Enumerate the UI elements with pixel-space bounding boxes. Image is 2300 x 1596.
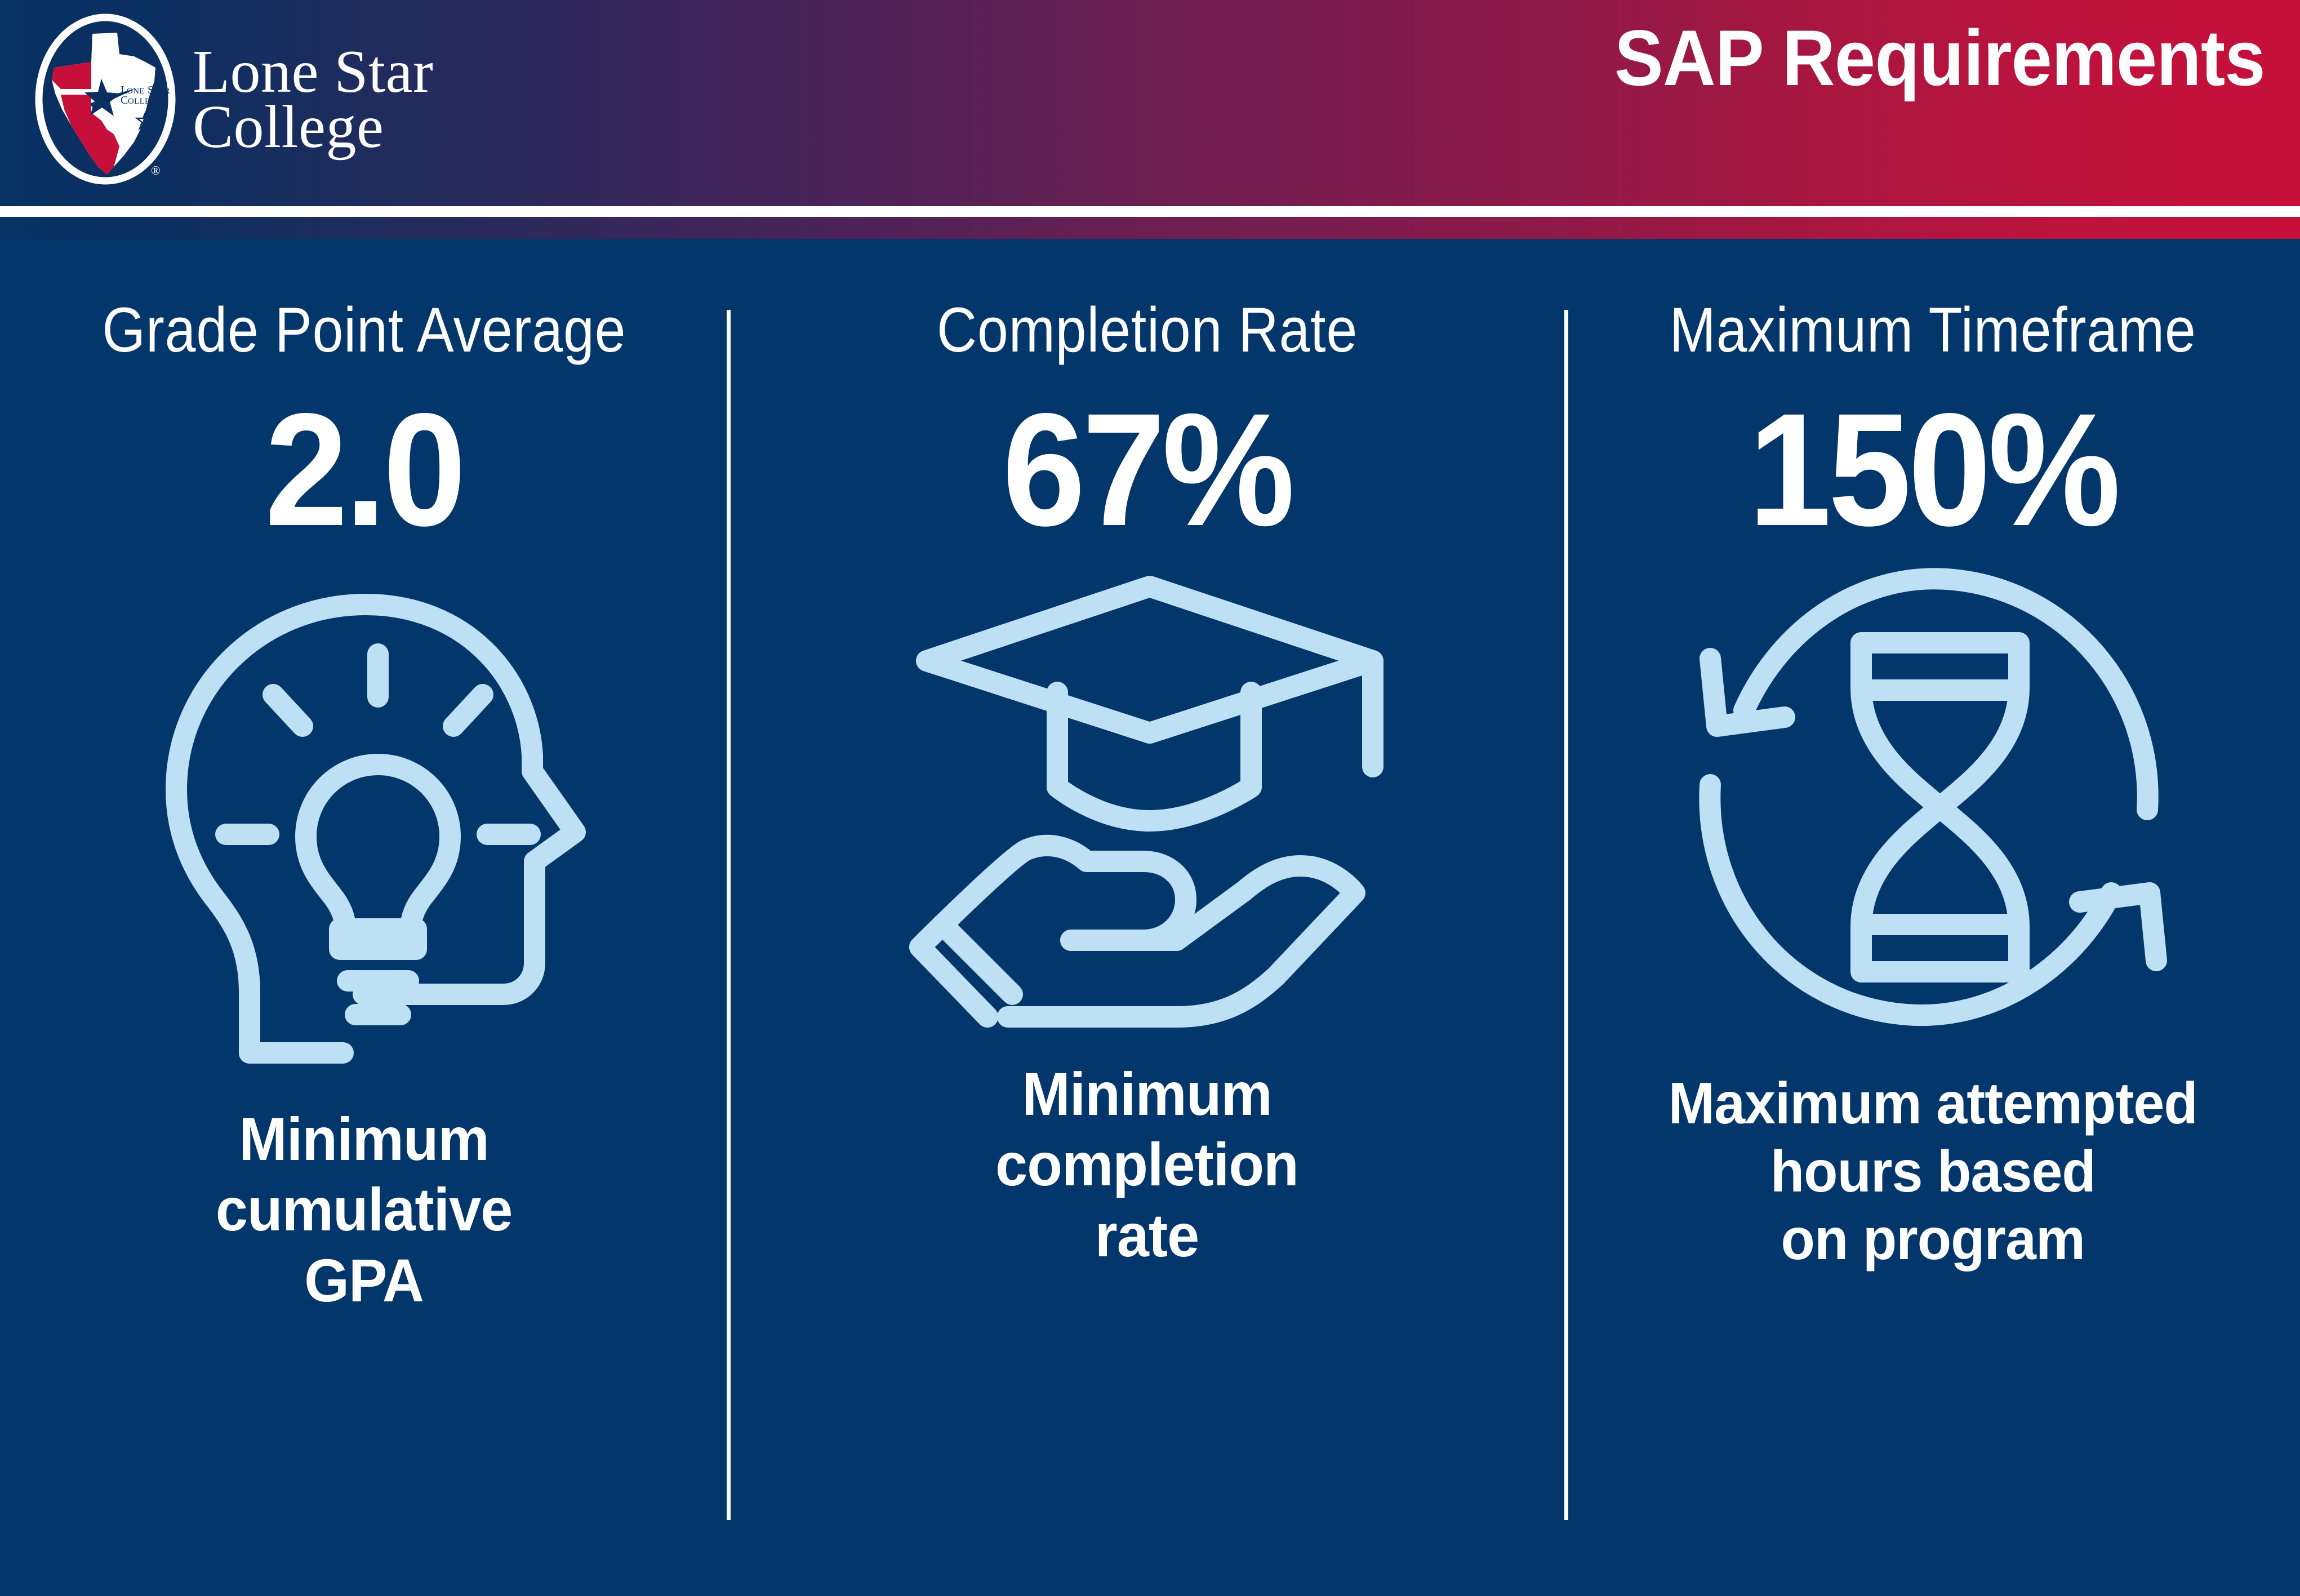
gpa-value: 2.0 bbox=[265, 390, 464, 550]
completion-rate-caption: Minimum completion rate bbox=[996, 1059, 1299, 1270]
svg-text:OLLEGE: OLLEGE bbox=[128, 97, 162, 106]
completion-rate-value: 67% bbox=[1003, 390, 1292, 550]
max-timeframe-caption: Maximum attempted hours based on program bbox=[1669, 1070, 2197, 1274]
gpa-caption: Minimum cumulative GPA bbox=[216, 1104, 513, 1315]
registered-mark-icon: ® bbox=[151, 163, 161, 177]
brand-wordmark-line2: College bbox=[193, 100, 433, 154]
graduation-cap-in-hand-icon bbox=[900, 566, 1395, 1039]
svg-text:TAR: TAR bbox=[154, 87, 170, 96]
brand-wordmark: Lone Star College bbox=[193, 45, 433, 154]
lone-star-college-texas-logo-icon: L ONE S TAR C OLLEGE ® bbox=[35, 14, 176, 185]
svg-text:C: C bbox=[121, 94, 128, 106]
requirement-column-max-timeframe: Maximum Timeframe 150% Maximum attempted… bbox=[1566, 239, 2300, 1596]
requirement-column-gpa: Grade Point Average 2.0 Minimum c bbox=[0, 239, 728, 1596]
header-accent-strip bbox=[0, 217, 2300, 239]
header-white-separator bbox=[0, 206, 2300, 217]
max-timeframe-value: 150% bbox=[1749, 390, 2118, 550]
head-lightbulb-icon bbox=[122, 566, 607, 1084]
hourglass-refresh-icon bbox=[1685, 566, 2181, 1051]
brand-wordmark-line1: Lone Star bbox=[193, 45, 433, 99]
brand-logo: L ONE S TAR C OLLEGE ® Lone Star College bbox=[35, 14, 433, 185]
svg-text:ONE: ONE bbox=[127, 87, 145, 96]
max-timeframe-heading: Maximum Timeframe bbox=[1670, 299, 2196, 362]
svg-text:S: S bbox=[148, 84, 154, 96]
page-title: SAP Requirements bbox=[1614, 12, 2265, 104]
completion-rate-heading: Completion Rate bbox=[937, 299, 1358, 362]
requirements-columns: Grade Point Average 2.0 Minimum c bbox=[0, 239, 2300, 1596]
gpa-heading: Grade Point Average bbox=[103, 299, 626, 362]
requirement-column-completion-rate: Completion Rate 67% Minimum completion r… bbox=[728, 239, 1566, 1596]
